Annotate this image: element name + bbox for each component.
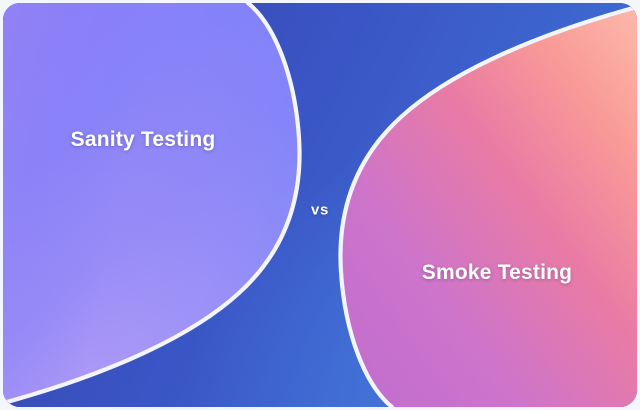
banner-stage: Sanity Testing vs Smoke Testing: [0, 0, 640, 410]
comparison-shapes: [3, 3, 637, 407]
pink-leaf-shape: [340, 7, 637, 407]
purple-leaf-shape: [3, 3, 300, 403]
banner-card: [3, 3, 637, 407]
